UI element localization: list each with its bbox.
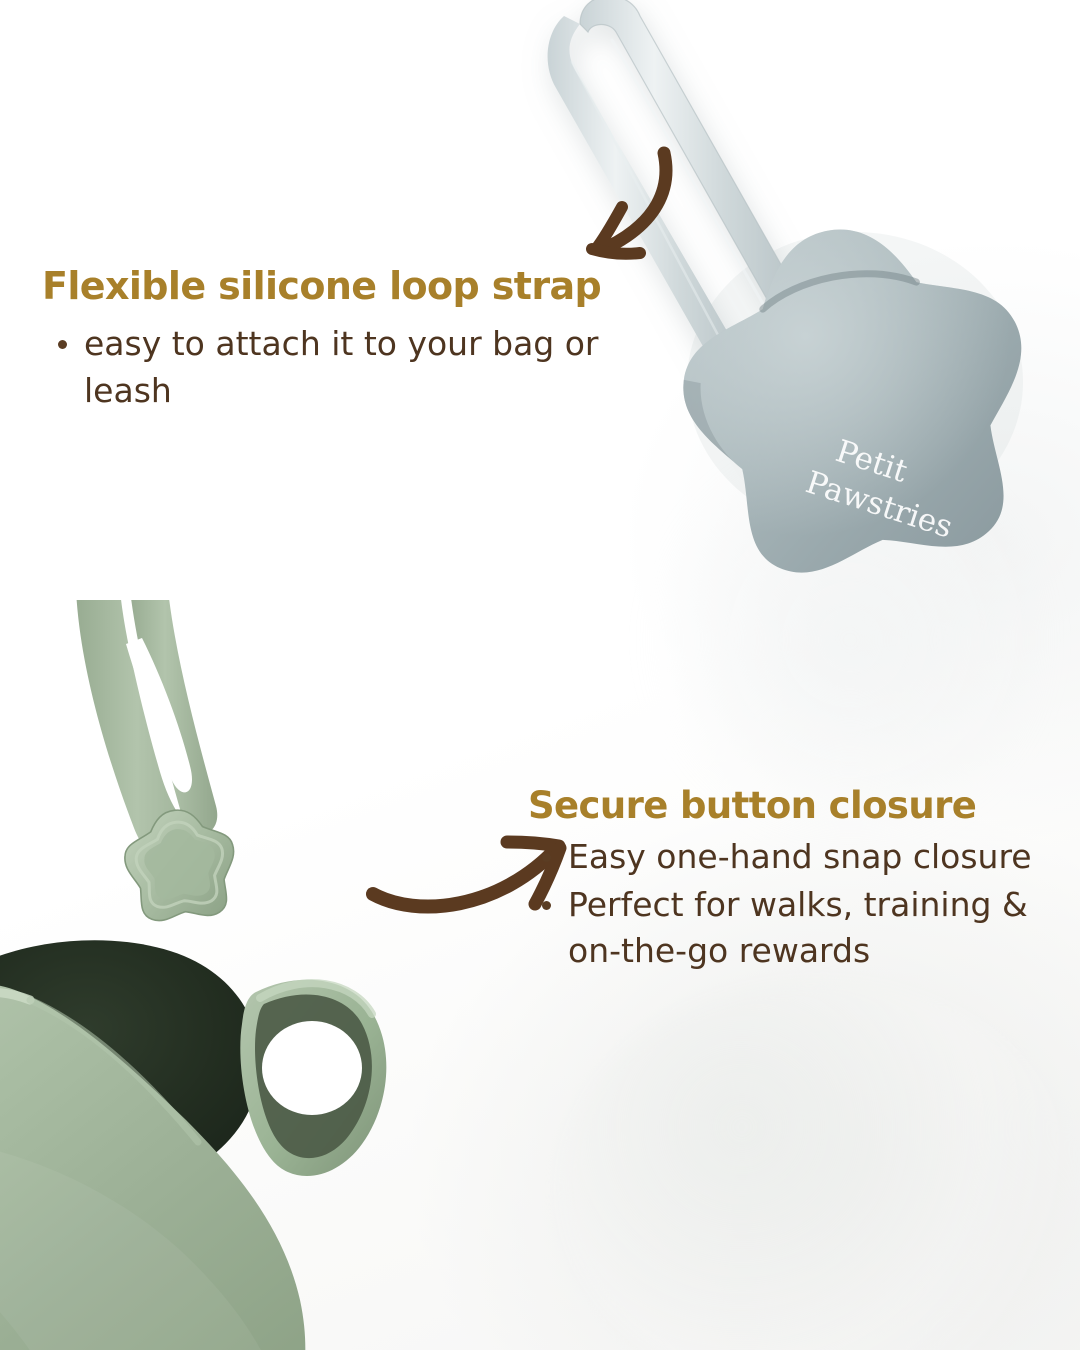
feature-bullet-list-button-closure: Easy one-hand snap closure Perfect for w… bbox=[528, 834, 1048, 975]
curved-arrow-down-left-icon bbox=[548, 145, 688, 275]
feature-heading-button-closure: Secure button closure bbox=[528, 786, 1048, 826]
feature-bullet: Easy one-hand snap closure bbox=[528, 834, 1048, 880]
pouch-handle-loop bbox=[240, 980, 386, 1176]
product-feature-infographic: Petit Pawstries bbox=[0, 0, 1080, 1350]
feature-heading-loop-strap: Flexible silicone loop strap bbox=[42, 266, 662, 307]
feature-bullet-list-loop-strap: easy to attach it to your bag or leash bbox=[42, 321, 662, 415]
feature-block-loop-strap: Flexible silicone loop strap easy to att… bbox=[42, 266, 662, 417]
feature-bullet: Perfect for walks, training & on-the-go … bbox=[528, 882, 1048, 974]
feature-block-button-closure: Secure button closure Easy one-hand snap… bbox=[528, 786, 1048, 977]
feature-bullet: easy to attach it to your bag or leash bbox=[42, 321, 662, 415]
